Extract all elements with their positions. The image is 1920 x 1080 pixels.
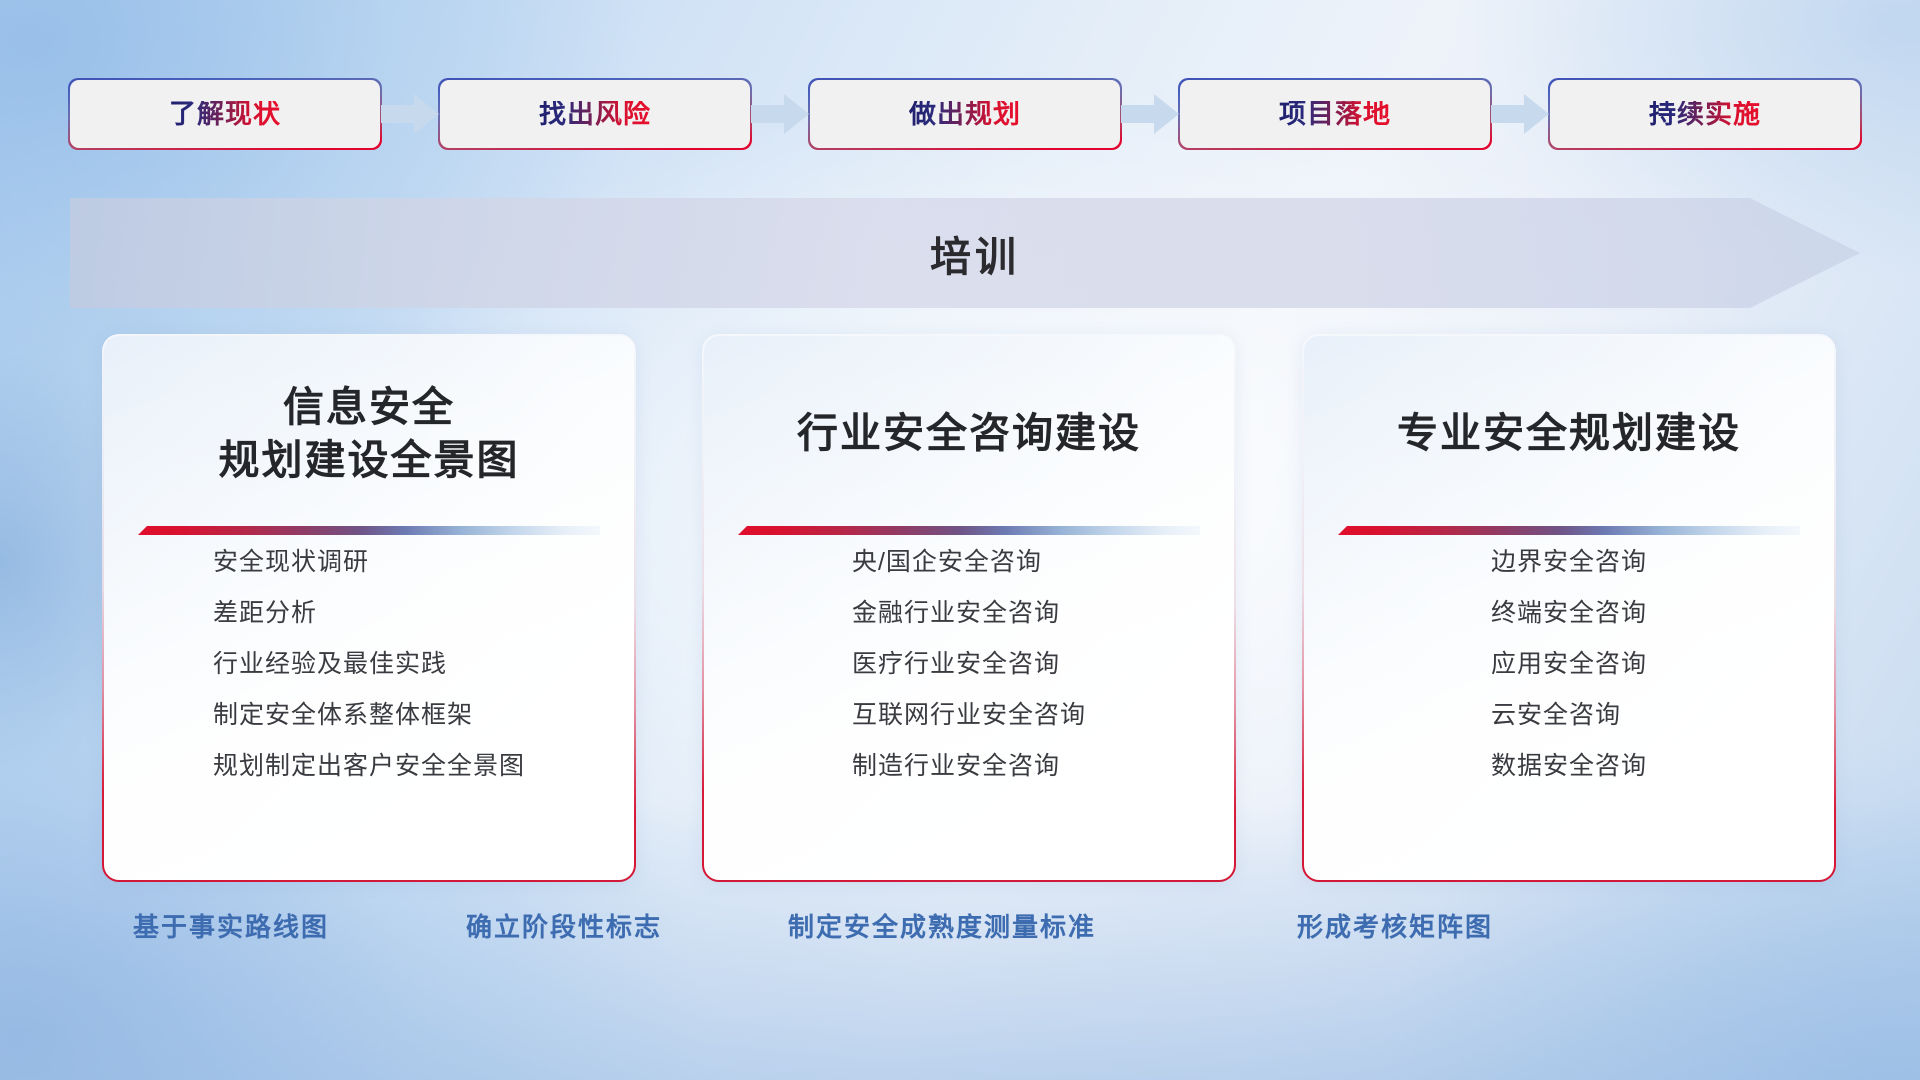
step-label-5: 持续实施 bbox=[1649, 101, 1761, 128]
step-arrow-4 bbox=[1490, 80, 1550, 148]
list-item: 安全现状调研 bbox=[213, 550, 525, 575]
footer-caption-1: 基于事实路线图 bbox=[133, 914, 329, 940]
card-divider-1 bbox=[138, 526, 600, 535]
step-label-2: 找出风险 bbox=[539, 101, 651, 128]
service-card-2[interactable]: 行业安全咨询建设 央/国企安全咨询 金融行业安全咨询 医疗行业安全咨询 互联网行… bbox=[704, 336, 1234, 880]
list-item: 行业经验及最佳实践 bbox=[213, 652, 525, 677]
list-item: 金融行业安全咨询 bbox=[852, 601, 1086, 626]
service-card-group: 信息安全 规划建设全景图 安全现状调研 差距分析 行业经验及最佳实践 制定安全体… bbox=[104, 336, 1834, 880]
list-item: 数据安全咨询 bbox=[1491, 754, 1647, 779]
card-list-1: 安全现状调研 差距分析 行业经验及最佳实践 制定安全体系整体框架 规划制定出客户… bbox=[104, 550, 634, 805]
service-card-3[interactable]: 专业安全规划建设 边界安全咨询 终端安全咨询 应用安全咨询 云安全咨询 数据安全… bbox=[1304, 336, 1834, 880]
footer-caption-group: 基于事实路线图 确立阶段性标志 制定安全成熟度测量标准 形成考核矩阵图 bbox=[0, 914, 1920, 960]
card-title-3-line-1: 专业安全规划建设 bbox=[1397, 407, 1741, 460]
card-title-1-line-1: 信息安全 bbox=[283, 381, 455, 434]
card-title-2: 行业安全咨询建设 bbox=[704, 336, 1234, 532]
list-item: 制定安全体系整体框架 bbox=[213, 703, 525, 728]
step-label-1: 了解现状 bbox=[169, 101, 281, 128]
step-box-2[interactable]: 找出风险 bbox=[440, 80, 750, 148]
list-item: 差距分析 bbox=[213, 601, 525, 626]
step-box-1[interactable]: 了解现状 bbox=[70, 80, 380, 148]
step-arrow-2 bbox=[750, 80, 810, 148]
training-banner: 培训 bbox=[70, 198, 1860, 308]
footer-caption-4: 形成考核矩阵图 bbox=[1297, 914, 1493, 940]
step-box-4[interactable]: 项目落地 bbox=[1180, 80, 1490, 148]
card-list-3: 边界安全咨询 终端安全咨询 应用安全咨询 云安全咨询 数据安全咨询 bbox=[1304, 550, 1834, 805]
card-title-1-line-2: 规划建设全景图 bbox=[219, 434, 520, 487]
card-title-1: 信息安全 规划建设全景图 bbox=[104, 336, 634, 532]
card-divider-2 bbox=[738, 526, 1200, 535]
card-title-3: 专业安全规划建设 bbox=[1304, 336, 1834, 532]
step-label-4: 项目落地 bbox=[1279, 101, 1391, 128]
list-item: 边界安全咨询 bbox=[1491, 550, 1647, 575]
step-arrow-3 bbox=[1120, 80, 1180, 148]
list-item: 央/国企安全咨询 bbox=[852, 550, 1086, 575]
step-arrow-1 bbox=[380, 80, 440, 148]
card-list-3-items: 边界安全咨询 终端安全咨询 应用安全咨询 云安全咨询 数据安全咨询 bbox=[1491, 550, 1647, 805]
step-box-5[interactable]: 持续实施 bbox=[1550, 80, 1860, 148]
list-item: 终端安全咨询 bbox=[1491, 601, 1647, 626]
list-item: 互联网行业安全咨询 bbox=[852, 703, 1086, 728]
arrow-right-icon bbox=[1491, 94, 1549, 134]
card-list-2: 央/国企安全咨询 金融行业安全咨询 医疗行业安全咨询 互联网行业安全咨询 制造行… bbox=[704, 550, 1234, 805]
list-item: 云安全咨询 bbox=[1491, 703, 1647, 728]
card-title-2-line-1: 行业安全咨询建设 bbox=[797, 407, 1141, 460]
list-item: 规划制定出客户安全全景图 bbox=[213, 754, 525, 779]
banner-label: 培训 bbox=[70, 198, 1860, 308]
arrow-right-icon bbox=[381, 94, 439, 134]
card-divider-3 bbox=[1338, 526, 1800, 535]
list-item: 制造行业安全咨询 bbox=[852, 754, 1086, 779]
card-list-1-items: 安全现状调研 差距分析 行业经验及最佳实践 制定安全体系整体框架 规划制定出客户… bbox=[213, 550, 525, 805]
list-item: 医疗行业安全咨询 bbox=[852, 652, 1086, 677]
step-label-3: 做出规划 bbox=[909, 101, 1021, 128]
arrow-right-icon bbox=[1121, 94, 1179, 134]
step-box-3[interactable]: 做出规划 bbox=[810, 80, 1120, 148]
card-list-2-items: 央/国企安全咨询 金融行业安全咨询 医疗行业安全咨询 互联网行业安全咨询 制造行… bbox=[852, 550, 1086, 805]
footer-caption-3: 制定安全成熟度测量标准 bbox=[788, 914, 1096, 940]
process-step-flow: 了解现状 找出风险 做出规划 项目落地 持续实施 bbox=[70, 80, 1860, 148]
arrow-right-icon bbox=[751, 94, 809, 134]
footer-caption-2: 确立阶段性标志 bbox=[466, 914, 662, 940]
service-card-1[interactable]: 信息安全 规划建设全景图 安全现状调研 差距分析 行业经验及最佳实践 制定安全体… bbox=[104, 336, 634, 880]
list-item: 应用安全咨询 bbox=[1491, 652, 1647, 677]
